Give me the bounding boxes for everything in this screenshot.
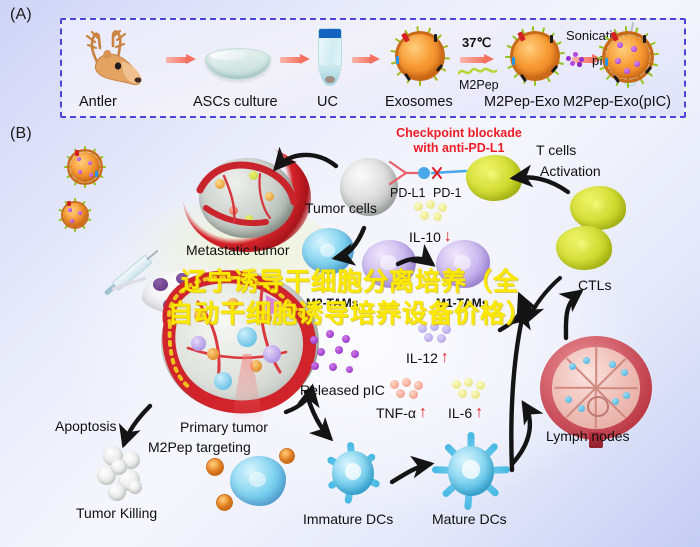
- cytokine-tnf-alpha: TNF-α ↑: [376, 405, 427, 421]
- exosome-icon: [64, 146, 106, 188]
- panel-a-step-label-m2pep-exo: M2Pep-Exo: [484, 94, 560, 110]
- surface-protein-icon: [396, 56, 399, 64]
- checkpoint-line-2: with anti-PD-L1: [414, 141, 505, 155]
- plc-cargo-icon: [631, 46, 637, 52]
- surface-protein-icon: [605, 58, 608, 66]
- label-pd-l1: PD-L1: [390, 186, 425, 200]
- surface-protein-icon: [550, 35, 553, 43]
- process-arrow: [460, 55, 494, 64]
- cytokine-tnf-alpha-label: TNF-α: [376, 405, 416, 421]
- label-pd-1: PD-1: [433, 186, 461, 200]
- mature-dc-icon: [432, 432, 510, 510]
- m2-tam-in-tumor-icon: [191, 336, 206, 351]
- label-metastatic-tumor: Metastatic tumor: [186, 242, 289, 258]
- exosome-icon: [390, 26, 450, 86]
- label-activation: Activation: [540, 163, 601, 179]
- tnf-alpha-particles-icon: [390, 378, 426, 400]
- label-t-cells: T cells: [536, 142, 576, 158]
- up-arrow-icon: ↑: [441, 350, 449, 366]
- targeted-macrophage-icon: [230, 456, 286, 506]
- m2pep-peptide-icon: [458, 66, 498, 78]
- centrifuge-tube-icon: [318, 28, 342, 86]
- up-arrow-icon: ↑: [419, 405, 427, 421]
- cytokine-il-12: IL-12 ↑: [406, 350, 449, 366]
- surface-protein-icon: [434, 34, 437, 42]
- cytokine-il-6-label: IL-6: [448, 405, 472, 421]
- label-apoptosis: Apoptosis: [55, 418, 116, 434]
- label-immature-dcs: Immature DCs: [303, 511, 393, 527]
- watermark-text: 辽宁诱导干细胞分离培养（全 自动干细胞诱导培养设备价格）: [5, 266, 695, 330]
- up-arrow-icon: ↑: [475, 405, 483, 421]
- label-released-plc: Released pIC: [300, 382, 385, 398]
- panel-a: (A) Antler ASCs culture: [0, 0, 700, 122]
- exosome-icon: [214, 492, 235, 513]
- process-arrow: [352, 55, 380, 64]
- m2pep-annotation-label: M2Pep: [459, 78, 499, 92]
- released-plc-particles-icon: [308, 330, 364, 376]
- label-m2pep-targeting: M2Pep targeting: [148, 439, 251, 455]
- cytokine-il-6: IL-6 ↑: [448, 405, 483, 421]
- label-tumor-killing: Tumor Killing: [76, 505, 157, 521]
- plc-cargo-icon: [617, 42, 623, 48]
- process-arrow: [280, 55, 310, 64]
- panel-a-step-label-uc: UC: [317, 94, 338, 110]
- plc-particles-icon: [566, 52, 588, 66]
- panel-a-tag: (A): [10, 6, 32, 24]
- apoptotic-body-icon: [92, 442, 154, 504]
- dc-in-tumor-icon: [237, 327, 257, 347]
- m2pep-exosome-icon: [505, 26, 565, 86]
- label-primary-tumor: Primary tumor: [180, 419, 268, 435]
- exosome-icon: [58, 198, 92, 232]
- panel-a-step-label-antler: Antler: [79, 94, 117, 110]
- exosome-icon: [277, 446, 297, 466]
- dc-in-tumor-icon: [214, 372, 232, 390]
- panel-b-tag: (B): [10, 125, 32, 143]
- label-tumor-cells: Tumor cells: [305, 200, 377, 216]
- immature-dc-icon: [318, 438, 388, 508]
- surface-protein-icon: [643, 35, 646, 43]
- plc-cargo-icon: [624, 68, 630, 74]
- panel-a-step-label-asc: ASCs culture: [193, 94, 278, 110]
- process-arrow: [166, 55, 196, 64]
- metastatic-tumor-icon: [190, 150, 304, 246]
- figure-canvas: (A) Antler ASCs culture: [0, 0, 700, 547]
- m2pep-exosome-plc-icon: [597, 26, 659, 88]
- surface-protein-icon: [512, 57, 515, 65]
- temperature-annotation: 37℃: [462, 35, 491, 51]
- t-cell-icon: [466, 155, 522, 201]
- deer-head-icon: [78, 28, 154, 90]
- il-6-particles-icon: [452, 378, 488, 400]
- exosome-icon: [204, 456, 226, 478]
- label-lymph-nodes: Lymph nodes: [546, 428, 630, 444]
- label-mature-dcs: Mature DCs: [432, 511, 507, 527]
- checkpoint-line-1: Checkpoint blockade: [396, 126, 522, 140]
- plc-cargo-icon: [615, 58, 621, 64]
- lymph-node-icon: [540, 336, 652, 440]
- il-10-particles-icon: [414, 200, 450, 222]
- cytokine-il-12-label: IL-12: [406, 350, 438, 366]
- cytokine-il-10: IL-10 ↓: [409, 229, 452, 245]
- cytokine-il-10-label: IL-10: [409, 229, 441, 245]
- checkpoint-blockade-title: Checkpoint blockade with anti-PD-L1: [374, 126, 544, 156]
- plc-cargo-icon: [634, 61, 640, 67]
- m2-tam-in-tumor-icon: [263, 345, 281, 363]
- ctl-cell-icon: [556, 226, 612, 270]
- panel-a-step-label-m2pep-exo-plc: M2Pep-Exo(pIC): [563, 94, 671, 110]
- ctl-cell-icon: [570, 186, 626, 230]
- panel-a-step-label-exosomes: Exosomes: [385, 94, 453, 110]
